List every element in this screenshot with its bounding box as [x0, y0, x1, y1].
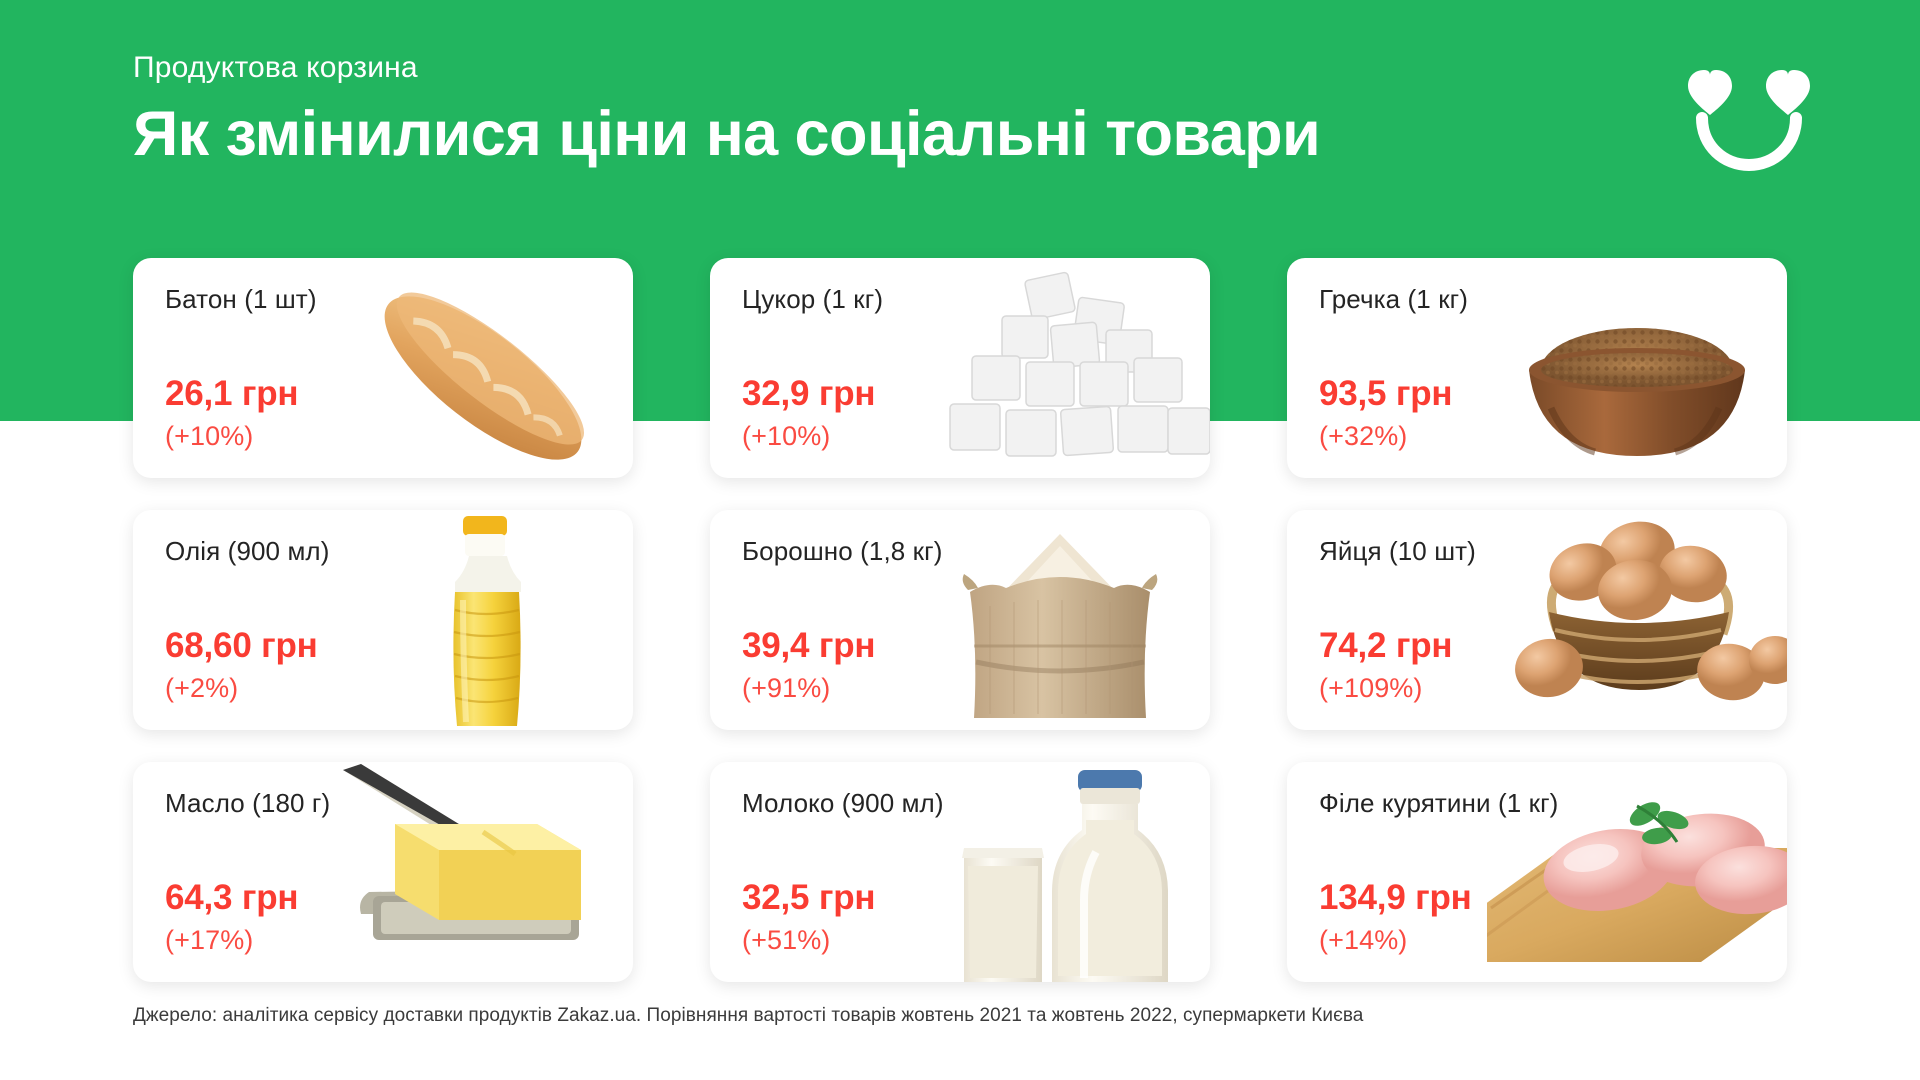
- card-title: Батон (1 шт): [165, 284, 317, 315]
- butter-icon: [333, 762, 633, 982]
- sugar-cubes-icon: [910, 258, 1210, 478]
- product-card[interactable]: Масло (180 г) 64,3 грн (+17%): [133, 762, 633, 982]
- flour-sack-icon: [910, 510, 1210, 730]
- oil-bottle-icon: [333, 510, 633, 730]
- product-card[interactable]: Олія (900 мл) 68,60 грн (+2%): [133, 510, 633, 730]
- card-title: Яйця (10 шт): [1319, 536, 1476, 567]
- card-price: 39,4 грн: [742, 626, 875, 666]
- card-price: 134,9 грн: [1319, 878, 1472, 918]
- card-delta: (+10%): [165, 421, 253, 452]
- card-delta: (+17%): [165, 925, 253, 956]
- buckwheat-bowl-icon: [1487, 258, 1787, 478]
- header-text-block: Продуктова корзина Як змінилися ціни на …: [133, 50, 1833, 168]
- product-card-grid: Батон (1 шт) 26,1 грн (+10%): [133, 258, 1787, 982]
- card-delta: (+51%): [742, 925, 830, 956]
- product-card[interactable]: Цукор (1 кг) 32,9 грн (+10%): [710, 258, 1210, 478]
- card-price: 74,2 грн: [1319, 626, 1452, 666]
- card-price: 68,60 грн: [165, 626, 318, 666]
- product-card[interactable]: Молоко (900 мл) 32,5 грн (+51%): [710, 762, 1210, 982]
- product-card[interactable]: Батон (1 шт) 26,1 грн (+10%): [133, 258, 633, 478]
- card-title: Масло (180 г): [165, 788, 330, 819]
- product-card[interactable]: Гречка (1 кг) 93,5 грн (+32%): [1287, 258, 1787, 478]
- card-price: 26,1 грн: [165, 374, 298, 414]
- header-kicker: Продуктова корзина: [133, 50, 1833, 86]
- milk-bottle-icon: [910, 762, 1210, 982]
- card-title: Філе курятини (1 кг): [1319, 788, 1558, 819]
- product-card[interactable]: Яйця (10 шт) 74,2 грн (+109%): [1287, 510, 1787, 730]
- card-title: Борошно (1,8 кг): [742, 536, 943, 567]
- card-delta: (+10%): [742, 421, 830, 452]
- card-delta: (+32%): [1319, 421, 1407, 452]
- zakaz-smiley-logo-icon: [1680, 60, 1830, 175]
- card-delta: (+91%): [742, 673, 830, 704]
- card-price: 32,5 грн: [742, 878, 875, 918]
- card-price: 64,3 грн: [165, 878, 298, 918]
- card-delta: (+109%): [1319, 673, 1423, 704]
- product-card[interactable]: Філе курятини (1 кг) 134,9 грн (+14%): [1287, 762, 1787, 982]
- bread-icon: [333, 258, 633, 478]
- page-title: Як змінилися ціни на соціальні товари: [133, 100, 1833, 168]
- infographic-page: Продуктова корзина Як змінилися ціни на …: [0, 0, 1920, 1080]
- card-price: 32,9 грн: [742, 374, 875, 414]
- card-title: Молоко (900 мл): [742, 788, 944, 819]
- card-title: Гречка (1 кг): [1319, 284, 1468, 315]
- card-title: Цукор (1 кг): [742, 284, 883, 315]
- card-title: Олія (900 мл): [165, 536, 329, 567]
- card-delta: (+2%): [165, 673, 238, 704]
- card-price: 93,5 грн: [1319, 374, 1452, 414]
- product-card[interactable]: Борошно (1,8 кг) 39,4 грн (+91%): [710, 510, 1210, 730]
- source-note: Джерело: аналітика сервісу доставки прод…: [133, 1005, 1363, 1027]
- card-delta: (+14%): [1319, 925, 1407, 956]
- eggs-basket-icon: [1487, 510, 1787, 730]
